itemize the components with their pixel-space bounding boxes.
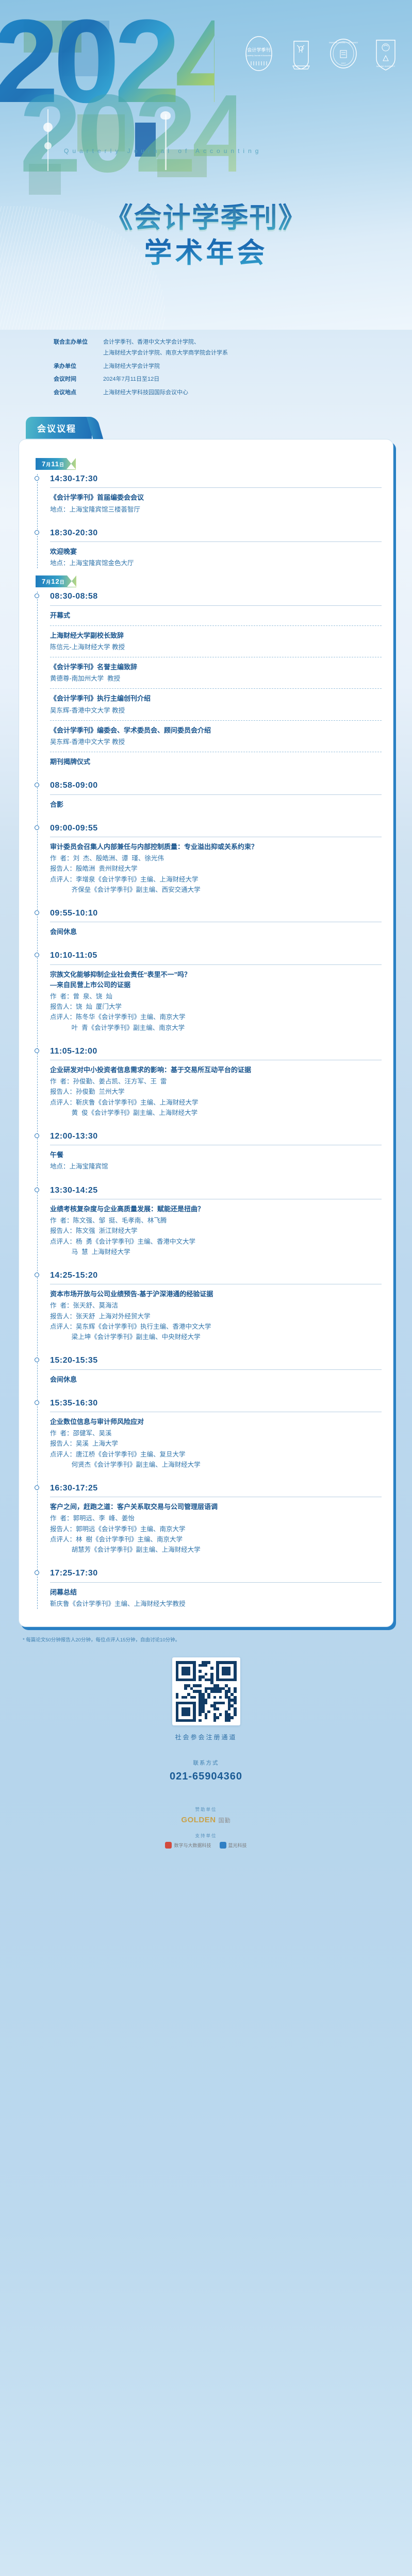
slot-time: 10:10-11:05 (50, 951, 382, 960)
timeline-dot-icon (35, 953, 39, 957)
slot-detail-line: 报告人：郭明远《会计学季刊》主编、南京大学 (50, 1524, 382, 1534)
slot-block: 审计委员会召集人内部兼任与内部控制质量：专业溢出抑或关系约束？作 者：刘 杰、殷… (50, 842, 382, 895)
slot-block: 期刊揭牌仪式 (50, 757, 382, 767)
slot-block: 《会计学季刊》编委会、学术委员会、顾问委员会介绍吴东辉-香港中文大学 教授 (50, 725, 382, 747)
timeline-dot-icon (35, 1358, 39, 1362)
slot-detail-line: 点评人：吴东辉《会计学季刊》执行主编、香港中文大学 (50, 1321, 382, 1332)
slot-block-divider (50, 625, 382, 626)
slot-block: 午餐地点：上海宝隆宾馆 (50, 1150, 382, 1172)
slot-detail-line: 黄德尊-南加州大学 教授 (50, 673, 382, 684)
timeline-dot-icon (35, 1048, 39, 1053)
tech-sponsor-logos: 数字与大数据科技 蓝光科技 (0, 1842, 412, 1849)
slot-time: 09:55-10:10 (50, 908, 382, 918)
info-value-line: 上海财经大学会计学院、南京大学商学院会计学系 (103, 348, 228, 359)
svg-text:SHANGHAI UNIVERSITY OF FINANCE: SHANGHAI UNIVERSITY OF FINANCE (329, 42, 358, 44)
slot-title: 《会计学季刊》首届编委会会议 (50, 493, 382, 503)
slot-detail-line: 梁上坤《会计学季刊》副主编、中央财经大学 (50, 1332, 382, 1342)
golden-logo: GOLDEN 国勤 (181, 1816, 230, 1824)
agenda-slot: 15:20-15:35会间休息 (50, 1355, 382, 1384)
slot-detail-line: 陈信元-上海财经大学 教授 (50, 642, 382, 652)
slot-divider (50, 1369, 382, 1370)
info-label: 承办单位 (54, 361, 103, 372)
slot-time: 08:30-08:58 (50, 591, 382, 601)
agenda-footnote: * 每篇论文50分钟报告人20分钟，每位点评人15分钟，自由讨论10分钟。 (23, 1636, 389, 1644)
svg-text:会计学季刊: 会计学季刊 (247, 47, 270, 53)
agenda-timeline: 08:30-08:58开幕式上海财经大学副校长致辞陈信元-上海财经大学 教授《会… (32, 591, 382, 1609)
slot-block: 开幕式 (50, 611, 382, 621)
agenda-slot: 08:30-08:58开幕式上海财经大学副校长致辞陈信元-上海财经大学 教授《会… (50, 591, 382, 767)
slot-title: 客户之间，赶跑之道：客户关系取交易与公司管理层语调 (50, 1502, 382, 1512)
slot-block: 宗族文化能够抑制企业社会责任“表里不一”吗？ —来自民营上市公司的证据作 者：曾… (50, 970, 382, 1033)
page-subtitle: 学术年会 (0, 230, 412, 270)
slot-block: 资本市场开放与公司业绩预告-基于沪深港通的经验证据作 者：张天舒、莫海洁报告人：… (50, 1289, 382, 1342)
agenda-slot: 08:58-09:00合影 (50, 781, 382, 809)
slot-block-divider (50, 657, 382, 657)
qja-logo: 会计学季刊Quarterly Journal of Accounting (244, 32, 274, 75)
agenda-days: 7月11日14:30-17:30《会计学季刊》首届编委会会议地点：上海宝隆宾馆三… (32, 453, 382, 1609)
agenda-slot: 14:30-17:30《会计学季刊》首届编委会会议地点：上海宝隆宾馆三楼荟智厅 (50, 474, 382, 515)
slot-detail-line: 何贤杰《会计学季刊》副主编、上海财经大学 (50, 1460, 382, 1470)
qr-caption: 社会参会注册通道 (0, 1733, 412, 1741)
slot-title: 宗族文化能够抑制企业社会责任“表里不一”吗？ —来自民营上市公司的证据 (50, 970, 382, 990)
info-value-line: 2024年7月11日至12日 (103, 374, 159, 385)
info-value-line: 会计学季刊、香港中文大学会计学院、 (103, 337, 228, 348)
tech-sponsor-a-label: 数字与大数据科技 (174, 1842, 211, 1849)
slot-divider (50, 837, 382, 837)
sponsor-logos: GOLDEN 国勤 (0, 1816, 412, 1824)
poster-header: 2024 2024 Quarterly Journal of Accountin… (0, 0, 412, 330)
slot-title: 午餐 (50, 1150, 382, 1160)
slot-block: 企业数位信息与审计师风险应对作 者：邵健军、吴溪报告人：吴溪 上海大学点评人：唐… (50, 1417, 382, 1470)
slot-time: 09:00-09:55 (50, 823, 382, 833)
slot-detail-line: 地点：上海宝隆宾馆 (50, 1161, 382, 1172)
agenda-day-flag: 7月12日 (36, 575, 76, 587)
contact-phone: 021-65904360 (0, 1771, 412, 1783)
flag-day-unit: 日 (59, 462, 64, 467)
agenda-section: 会议议程 7月11日14:30-17:30《会计学季刊》首届编委会会议地点：上海… (19, 417, 393, 1627)
timeline-dot-icon (35, 1485, 39, 1490)
slot-time: 16:30-17:25 (50, 1483, 382, 1493)
agenda-slot: 17:25-17:30闭幕总结靳庆鲁《会计学季刊》主编、上海财经大学教授 (50, 1568, 382, 1609)
flag-month: 7 (42, 460, 46, 468)
slot-divider (50, 1412, 382, 1412)
agenda-slot: 18:30-20:30欢迎晚宴地点：上海宝隆宾馆金色大厅 (50, 528, 382, 569)
slot-divider (50, 1284, 382, 1284)
info-value-line: 上海财经大学会计学院 (103, 361, 160, 372)
slot-detail-line: 黄 俊《会计学季刊》副主编、上海财经大学 (50, 1108, 382, 1118)
slot-time: 15:20-15:35 (50, 1355, 382, 1365)
slot-block: 《会计学季刊》名誉主编致辞黄德尊-南加州大学 教授 (50, 662, 382, 684)
slot-divider (50, 1582, 382, 1583)
slot-detail-line: 点评人：杨 勇《会计学季刊》主编、香港中文大学 (50, 1236, 382, 1247)
info-row: 承办单位 上海财经大学会计学院 (54, 361, 412, 372)
slot-detail-line: 报告人：吴溪 上海大学 (50, 1438, 382, 1449)
slot-block: 会间休息 (50, 927, 382, 937)
slot-block: 业绩考核复杂度与企业高质量发展：赋能还是扭曲？作 者：陈文强、邹 挺、毛孝南、林… (50, 1204, 382, 1257)
agenda-slot: 16:30-17:25客户之间，赶跑之道：客户关系取交易与公司管理层语调作 者：… (50, 1483, 382, 1555)
sufe-accounting-logo (286, 32, 316, 75)
slot-block: 企业研发对中小投资者信息需求的影响：基于交易所互动平台的证据作 者：孙俊勤、姜占… (50, 1065, 382, 1118)
slot-detail-line: 作 者：曾 泉、饶 灿 (50, 991, 382, 1002)
info-row: 会议地点 上海财经大学科技园国际会议中心 (54, 387, 412, 398)
tech-sponsor-a: 数字与大数据科技 (165, 1842, 211, 1849)
info-value-line: 上海财经大学科技园国际会议中心 (103, 387, 188, 398)
slot-detail-line: 报告人：饶 灿 厦门大学 (50, 1002, 382, 1012)
slot-detail-line: 齐保垒《会计学季刊》副主编、西安交通大学 (50, 885, 382, 895)
slot-detail-line: 吴东辉-香港中文大学 教授 (50, 705, 382, 716)
slot-title: 上海财经大学副校长致辞 (50, 631, 382, 641)
slot-divider (50, 794, 382, 795)
slot-detail-line: 地点：上海宝隆宾馆三楼荟智厅 (50, 504, 382, 515)
flag-month-unit: 月 (46, 462, 51, 467)
slot-detail-line: 报告人：孙俊勤 兰州大学 (50, 1087, 382, 1097)
slot-block: 《会计学季刊》执行主编创刊介绍吴东辉-香港中文大学 教授 (50, 693, 382, 715)
sponsor-row: 支持单位 数字与大数据科技 蓝光科技 (0, 1833, 412, 1849)
slot-title: 审计委员会召集人内部兼任与内部控制质量：专业溢出抑或关系约束？ (50, 842, 382, 852)
conference-info: 联合主办单位 会计学季刊、香港中文大学会计学院、 上海财经大学会计学院、南京大学… (0, 330, 412, 405)
svg-text:NANJING UNIVERSITY: NANJING UNIVERSITY (376, 65, 395, 67)
timeline-dot-icon (35, 825, 39, 830)
info-value: 上海财经大学会计学院 (103, 361, 160, 372)
slot-block: 闭幕总结靳庆鲁《会计学季刊》主编、上海财经大学教授 (50, 1587, 382, 1609)
sponsor-label: 赞助单位 (0, 1806, 412, 1812)
slot-title: 会间休息 (50, 1375, 382, 1385)
timeline-dot-icon (35, 1273, 39, 1277)
timeline-dot-icon (35, 530, 39, 535)
contact-block: 联系方式 021-65904360 (0, 1759, 412, 1783)
slot-time: 17:25-17:30 (50, 1568, 382, 1578)
timeline-dot-icon (35, 476, 39, 481)
sponsor-row: 赞助单位 GOLDEN 国勤 (0, 1806, 412, 1824)
tower-icon (165, 114, 167, 170)
slot-detail-line: 报告人：殷皓洲 贵州财经大学 (50, 863, 382, 874)
slot-time: 11:05-12:00 (50, 1046, 382, 1056)
slot-title: 资本市场开放与公司业绩预告-基于沪深港通的经验证据 (50, 1289, 382, 1299)
agenda-slot: 09:55-10:10会间休息 (50, 908, 382, 937)
info-row: 会议时间 2024年7月11日至12日 (54, 374, 412, 385)
slot-detail-line: 点评人：李增泉《会计学季刊》主编、上海财经大学 (50, 874, 382, 885)
slot-detail-line: 地点：上海宝隆宾馆金色大厅 (50, 558, 382, 568)
svg-text:Quarterly Journal of Accountin: Quarterly Journal of Accounting (246, 55, 272, 57)
timeline-dot-icon (35, 910, 39, 915)
slot-title: 会间休息 (50, 927, 382, 937)
sponsor-footer: 赞助单位 GOLDEN 国勤 支持单位 数字与大数据科技 蓝光科技 (0, 1806, 412, 1870)
slot-time: 18:30-20:30 (50, 528, 382, 538)
contact-label: 联系方式 (0, 1759, 412, 1767)
slot-divider (50, 1199, 382, 1199)
slot-title: 《会计学季刊》编委会、学术委员会、顾问委员会介绍 (50, 725, 382, 736)
flag-month-unit: 月 (46, 580, 51, 585)
slot-divider (50, 541, 382, 542)
slot-block: 上海财经大学副校长致辞陈信元-上海财经大学 教授 (50, 631, 382, 652)
slot-detail-line: 叶 青《会计学季刊》副主编、南京大学 (50, 1023, 382, 1033)
slot-time: 15:35-16:30 (50, 1398, 382, 1408)
slot-detail-line: 点评人：唐江桥《会计学季刊》主编、复旦大学 (50, 1449, 382, 1460)
flag-day: 11 (51, 460, 59, 468)
agenda-slot: 12:00-13:30午餐地点：上海宝隆宾馆 (50, 1131, 382, 1172)
slot-title: 开幕式 (50, 611, 382, 621)
slot-title: 企业研发对中小投资者信息需求的影响：基于交易所互动平台的证据 (50, 1065, 382, 1075)
slot-block: 《会计学季刊》首届编委会会议地点：上海宝隆宾馆三楼荟智厅 (50, 493, 382, 514)
qr-code[interactable] (172, 1657, 240, 1725)
agenda-slot: 11:05-12:00企业研发对中小投资者信息需求的影响：基于交易所互动平台的证… (50, 1046, 382, 1118)
slot-title: 《会计学季刊》执行主编创刊介绍 (50, 693, 382, 704)
flag-month: 7 (42, 578, 46, 585)
slot-divider (50, 1145, 382, 1145)
agenda-slot: 10:10-11:05宗族文化能够抑制企业社会责任“表里不一”吗？ —来自民营上… (50, 951, 382, 1032)
agenda-slot: 14:25-15:20资本市场开放与公司业绩预告-基于沪深港通的经验证据作 者：… (50, 1270, 382, 1342)
info-row: 联合主办单位 会计学季刊、香港中文大学会计学院、 上海财经大学会计学院、南京大学… (54, 337, 412, 359)
slot-detail-line: 点评人：陈冬华《会计学季刊》主编、南京大学 (50, 1012, 382, 1022)
agenda-slot: 09:00-09:55审计委员会召集人内部兼任与内部控制质量：专业溢出抑或关系约… (50, 823, 382, 895)
svg-text:1917: 1917 (341, 62, 347, 64)
slot-block: 客户之间，赶跑之道：客户关系取交易与公司管理层语调作 者：郭明远、李 峰、姜怡报… (50, 1502, 382, 1555)
timeline-dot-icon (35, 1400, 39, 1405)
slot-time: 12:00-13:30 (50, 1131, 382, 1141)
slot-time: 14:25-15:20 (50, 1270, 382, 1280)
agenda-slot: 15:35-16:30企业数位信息与审计师风险应对作 者：邵健军、吴溪报告人：吴… (50, 1398, 382, 1470)
slot-block-divider (50, 720, 382, 721)
registration-qr-area: 社会参会注册通道 (0, 1657, 412, 1741)
red-square-icon (165, 1842, 172, 1849)
slot-title: 企业数位信息与审计师风险应对 (50, 1417, 382, 1427)
info-label: 会议时间 (54, 374, 103, 385)
sponsor-label: 支持单位 (0, 1833, 412, 1839)
slot-detail-line: 靳庆鲁《会计学季刊》主编、上海财经大学教授 (50, 1599, 382, 1609)
flag-day-unit: 日 (60, 580, 65, 585)
agenda-slot: 13:30-14:25业绩考核复杂度与企业高质量发展：赋能还是扭曲？作 者：陈文… (50, 1185, 382, 1257)
agenda-timeline: 14:30-17:30《会计学季刊》首届编委会会议地点：上海宝隆宾馆三楼荟智厅1… (32, 474, 382, 568)
oriental-pearl-tower-icon (47, 109, 48, 171)
slot-detail-line: 作 者：郭明远、李 峰、姜怡 (50, 1513, 382, 1523)
agenda-tab: 会议议程 (26, 417, 92, 439)
slot-detail-line: 作 者：刘 杰、殷皓洲、谭 瑾、徐光伟 (50, 853, 382, 863)
slot-block-divider (50, 752, 382, 752)
slot-divider (50, 1060, 382, 1060)
slot-detail-line: 马 慧 上海财经大学 (50, 1247, 382, 1257)
timeline-dot-icon (35, 594, 39, 598)
qr-module (234, 1719, 237, 1722)
tech-sponsor-b: 蓝光科技 (220, 1842, 247, 1849)
slot-divider (50, 487, 382, 488)
slot-time: 08:58-09:00 (50, 781, 382, 790)
conference-poster: 2024 2024 Quarterly Journal of Accountin… (0, 0, 412, 2576)
slot-detail-line: 胡慧芳《会计学季刊》副主编、上海财经大学 (50, 1545, 382, 1555)
golden-logo-en: GOLDEN (181, 1816, 216, 1824)
info-label: 联合主办单位 (54, 337, 103, 348)
slot-title: 业绩考核复杂度与企业高质量发展：赋能还是扭曲？ (50, 1204, 382, 1214)
slot-title: 欢迎晚宴 (50, 547, 382, 557)
slot-divider (50, 1497, 382, 1497)
tech-sponsor-b-label: 蓝光科技 (228, 1842, 247, 1849)
slot-detail-line: 吴东辉-香港中文大学 教授 (50, 737, 382, 747)
slot-time: 14:30-17:30 (50, 474, 382, 484)
journal-english-name: Quarterly Journal of Accounting (64, 147, 262, 155)
slot-block: 会间休息 (50, 1375, 382, 1385)
sufe-logo: SHANGHAI UNIVERSITY OF FINANCE1917 (328, 32, 358, 75)
golden-logo-cn: 国勤 (219, 1816, 231, 1824)
slot-detail-line: 报告人：张天舒 上海对外经贸大学 (50, 1311, 382, 1321)
slot-divider (50, 605, 382, 606)
timeline-dot-icon (35, 1133, 39, 1138)
slot-block: 欢迎晚宴地点：上海宝隆宾馆金色大厅 (50, 547, 382, 568)
timeline-dot-icon (35, 1570, 39, 1575)
agenda-card: 7月11日14:30-17:30《会计学季刊》首届编委会会议地点：上海宝隆宾馆三… (19, 439, 393, 1627)
info-label: 会议地点 (54, 387, 103, 398)
slot-detail-line: 点评人：靳庆鲁《会计学季刊》主编、上海财经大学 (50, 1097, 382, 1108)
slot-title: 期刊揭牌仪式 (50, 757, 382, 767)
slot-title: 《会计学季刊》名誉主编致辞 (50, 662, 382, 672)
slot-title: 闭幕总结 (50, 1587, 382, 1598)
slot-detail-line: 作 者：邵健军、吴溪 (50, 1428, 382, 1438)
blue-square-icon (220, 1842, 226, 1849)
slot-detail-line: 作 者：张天舒、莫海洁 (50, 1300, 382, 1311)
slot-divider (50, 964, 382, 965)
info-value: 上海财经大学科技园国际会议中心 (103, 387, 188, 398)
slot-block: 合影 (50, 800, 382, 810)
timeline-dot-icon (35, 783, 39, 787)
slot-title: 合影 (50, 800, 382, 810)
info-value: 会计学季刊、香港中文大学会计学院、 上海财经大学会计学院、南京大学商学院会计学系 (103, 337, 228, 359)
organizer-logos: 会计学季刊Quarterly Journal of Accounting SHA… (244, 32, 401, 75)
slot-divider (50, 922, 382, 922)
slot-detail-line: 作 者：孙俊勤、姜占凯、汪方军、王 雷 (50, 1076, 382, 1087)
slot-block-divider (50, 688, 382, 689)
agenda-day-flag: 7月11日 (36, 458, 76, 470)
info-value: 2024年7月11日至12日 (103, 374, 159, 385)
nanjing-university-logo: NANJING UNIVERSITY (371, 32, 401, 75)
slot-detail-line: 点评人：林 樹《会计学季刊》主编、南京大学 (50, 1534, 382, 1545)
slot-detail-line: 作 者：陈文强、邹 挺、毛孝南、林飞腾 (50, 1215, 382, 1226)
flag-day: 12 (51, 578, 59, 585)
slot-detail-line: 报告人：陈文强 浙江财经大学 (50, 1226, 382, 1236)
slot-time: 13:30-14:25 (50, 1185, 382, 1195)
timeline-dot-icon (35, 1188, 39, 1192)
